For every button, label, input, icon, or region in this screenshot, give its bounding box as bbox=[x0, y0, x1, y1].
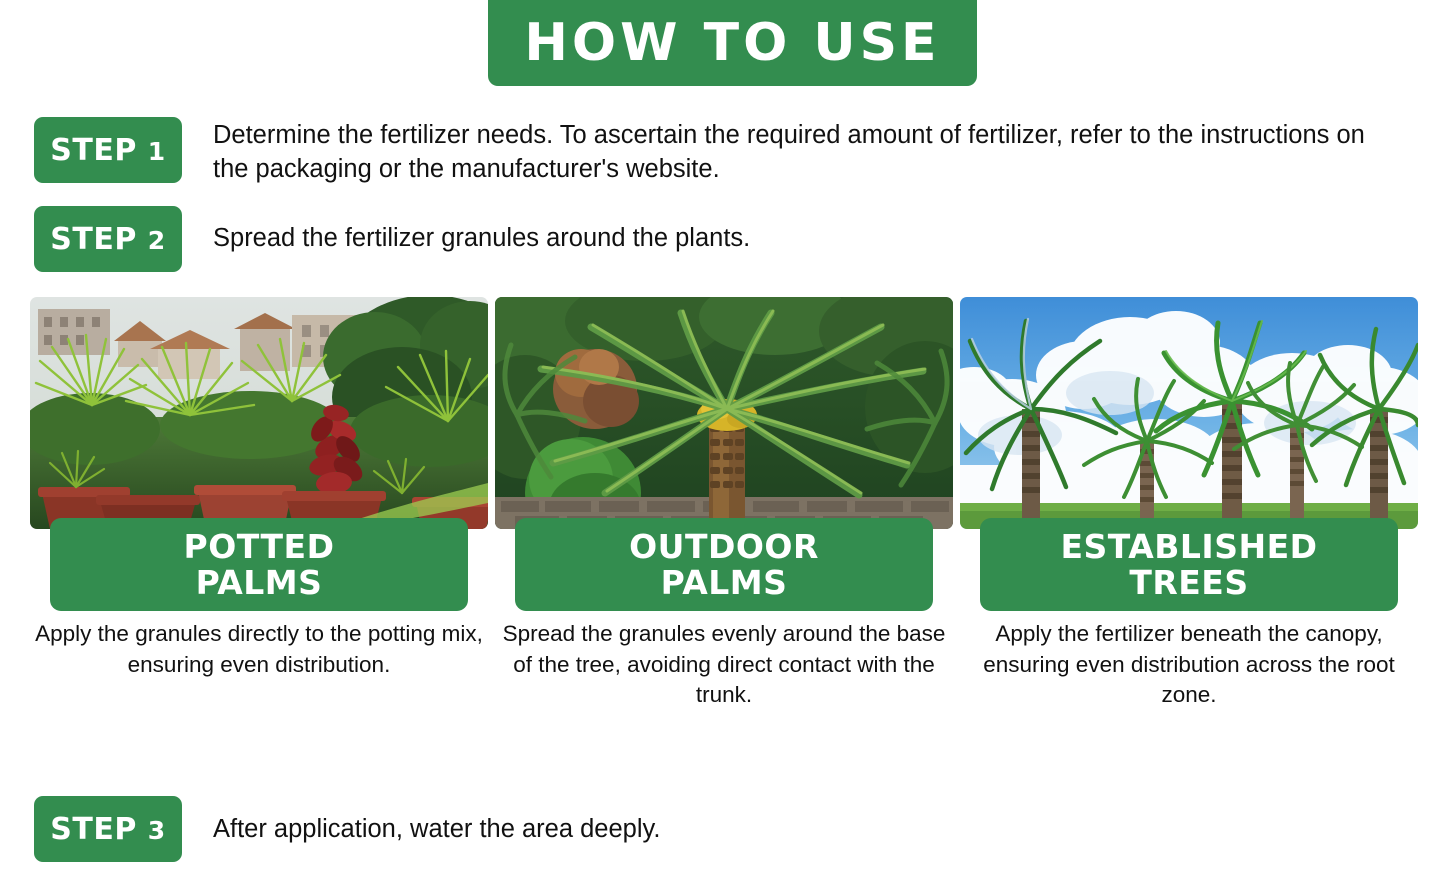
step-badge-2-number: 2 bbox=[148, 226, 166, 255]
step-badge-1-label: STEP 1 bbox=[50, 133, 165, 168]
card-label-outdoor-palms-text: OUTDOOR PALMS bbox=[629, 529, 819, 600]
step-badge-1-word: STEP bbox=[50, 133, 137, 168]
step-row-3: STEP 3 After application, water the area… bbox=[34, 796, 660, 862]
step-3-text: After application, water the area deeply… bbox=[213, 813, 660, 847]
step-row-2: STEP 2 Spread the fertilizer granules ar… bbox=[34, 206, 750, 272]
step-row-1: STEP 1 Determine the fertilizer needs. T… bbox=[34, 117, 1373, 186]
card-outdoor-palms: OUTDOOR PALMS Spread the granules evenly… bbox=[495, 297, 953, 717]
step-badge-3-number: 3 bbox=[148, 816, 166, 845]
established-trees-photo bbox=[960, 297, 1418, 529]
step-badge-2-word: STEP bbox=[50, 222, 137, 257]
card-potted-palms: POTTED PALMS Apply the granules directly… bbox=[30, 297, 488, 717]
card-caption-established-trees: Apply the fertilizer beneath the canopy,… bbox=[964, 619, 1414, 711]
step-1-text: Determine the fertilizer needs. To ascer… bbox=[213, 119, 1373, 186]
card-label-line2: PALMS bbox=[196, 563, 323, 602]
step-badge-3-label: STEP 3 bbox=[50, 812, 165, 847]
header-banner: HOW TO USE bbox=[488, 0, 977, 86]
step-badge-3-word: STEP bbox=[50, 812, 137, 847]
card-label-line1: OUTDOOR bbox=[629, 527, 819, 566]
step-2-text: Spread the fertilizer granules around th… bbox=[213, 222, 750, 256]
card-label-line2: PALMS bbox=[661, 563, 788, 602]
outdoor-palms-photo bbox=[495, 297, 953, 529]
page-title: HOW TO USE bbox=[524, 17, 940, 69]
card-label-potted-palms: POTTED PALMS bbox=[50, 518, 468, 611]
step-badge-2: STEP 2 bbox=[34, 206, 182, 272]
card-label-potted-palms-text: POTTED PALMS bbox=[184, 529, 335, 600]
card-label-line2: TREES bbox=[1129, 563, 1248, 602]
step-badge-2-label: STEP 2 bbox=[50, 222, 165, 257]
card-label-line1: POTTED bbox=[184, 527, 335, 566]
card-label-line1: ESTABLISHED bbox=[1060, 527, 1317, 566]
step-badge-1: STEP 1 bbox=[34, 117, 182, 183]
card-gallery: POTTED PALMS Apply the granules directly… bbox=[30, 297, 1414, 717]
card-label-established-trees-text: ESTABLISHED TREES bbox=[1060, 529, 1317, 600]
card-established-trees: ESTABLISHED TREES Apply the fertilizer b… bbox=[960, 297, 1418, 717]
card-caption-potted-palms: Apply the granules directly to the potti… bbox=[34, 619, 484, 680]
card-label-established-trees: ESTABLISHED TREES bbox=[980, 518, 1398, 611]
card-caption-outdoor-palms: Spread the granules evenly around the ba… bbox=[499, 619, 949, 711]
card-label-outdoor-palms: OUTDOOR PALMS bbox=[515, 518, 933, 611]
step-badge-1-number: 1 bbox=[148, 137, 166, 166]
potted-palms-photo bbox=[30, 297, 488, 529]
step-badge-3: STEP 3 bbox=[34, 796, 182, 862]
